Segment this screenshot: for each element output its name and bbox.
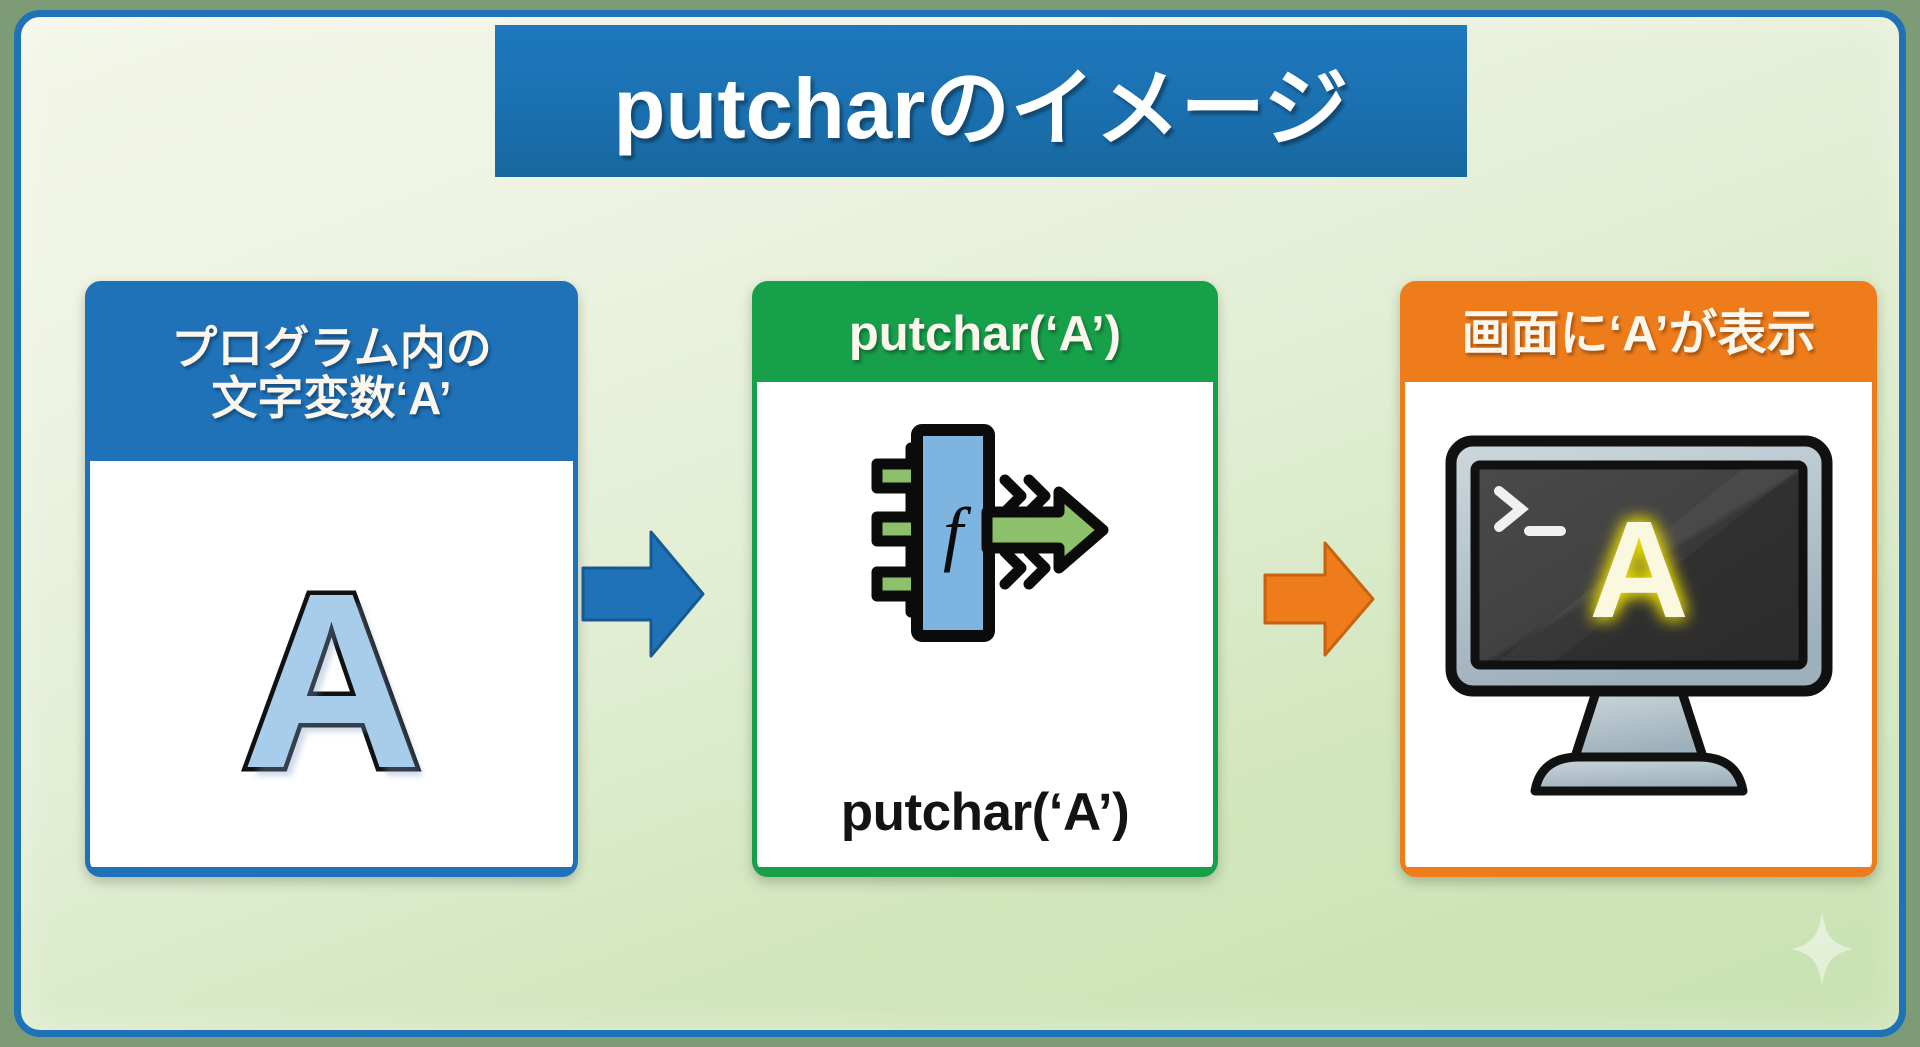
slide-root: putcharのイメージ プログラム内の 文字変数‘A’ A putchar(‘ [0,0,1920,1047]
card-variable-header-line2: 文字変数‘A’ [171,374,492,424]
monitor-icon: A [1443,433,1835,817]
function-machine-icon: f [859,422,1111,644]
page-title: putcharのイメージ [614,40,1349,163]
card-function-body: f putchar(‘A’) [757,382,1213,867]
sparkle-icon [1789,910,1855,988]
card-variable: プログラム内の 文字変数‘A’ A [85,281,578,877]
card-function: putchar(‘A’) f [752,281,1218,877]
card-variable-header-line1: プログラム内の [171,324,492,374]
function-caption: putchar(‘A’) [841,782,1129,843]
card-variable-body: A [90,461,573,867]
flow-arrow-blue-icon [581,530,705,658]
slide-panel: putcharのイメージ プログラム内の 文字変数‘A’ A putchar(‘ [14,10,1906,1037]
variable-glyph-a: A [241,556,422,806]
card-variable-header: プログラム内の 文字変数‘A’ [90,286,573,461]
card-screen-header: 画面に‘A’が表示 [1405,286,1872,382]
card-function-header: putchar(‘A’) [757,286,1213,382]
card-screen-body: A [1405,382,1872,867]
card-screen: 画面に‘A’が表示 [1400,281,1877,877]
flow-arrow-orange-icon [1263,541,1375,657]
card-screen-header-label: 画面に‘A’が表示 [1462,308,1816,361]
terminal-output-a: A [1589,493,1689,647]
card-function-header-label: putchar(‘A’) [849,308,1121,361]
title-banner: putcharのイメージ [495,25,1467,177]
